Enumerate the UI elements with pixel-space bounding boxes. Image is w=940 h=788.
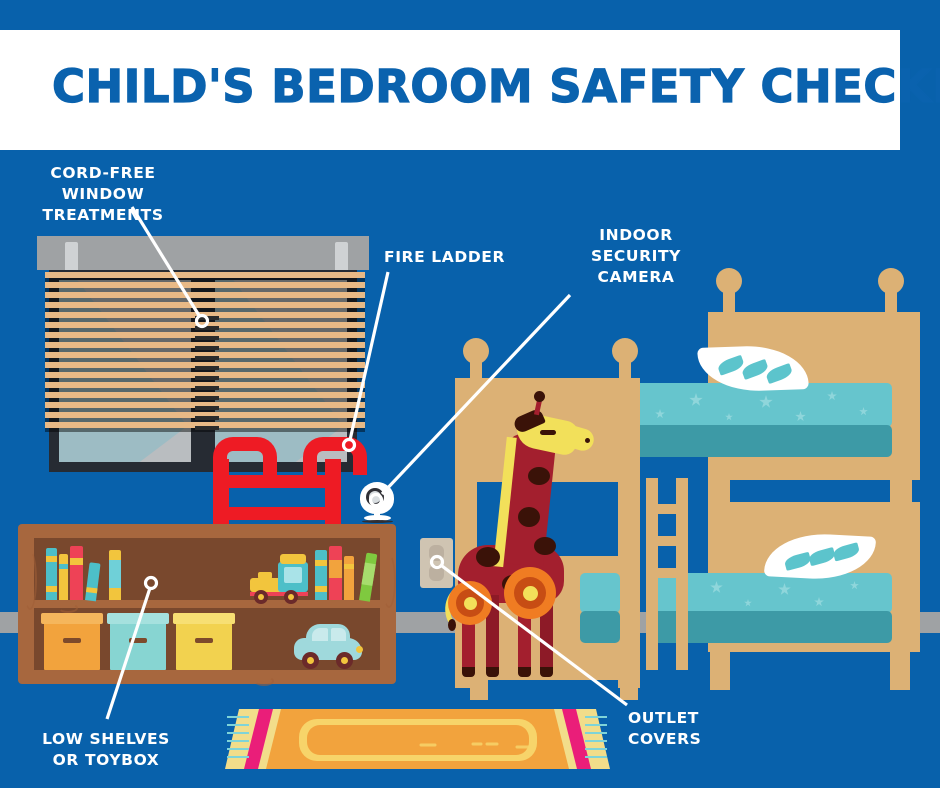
ladder-rail-right	[325, 459, 341, 527]
blind-center-shadow	[195, 316, 219, 430]
page-title: CHILD'S BEDROOM SAFETY CHECKLIST	[52, 60, 872, 113]
infographic-canvas: CHILD'S BEDROOM SAFETY CHECKLIST	[0, 0, 940, 788]
window-valance	[37, 236, 369, 270]
area-rug	[225, 703, 610, 775]
train-stack	[258, 572, 272, 579]
bed-leg-front-left	[470, 678, 488, 700]
giraffe-nostril	[585, 438, 590, 443]
giraffe-ride-on-toy	[440, 395, 600, 680]
giraffe-horn-tip	[534, 391, 545, 402]
bunk-ladder-step-3	[646, 568, 688, 578]
fire-escape-ladder	[213, 437, 343, 529]
car-wheel-rear-hub	[341, 657, 348, 664]
rug-shape	[225, 703, 610, 775]
giraffe-hoof-3	[518, 667, 531, 677]
bed-leg-rear-left	[710, 650, 730, 690]
bunk-ladder-step-1	[646, 504, 688, 514]
indoor-security-camera	[358, 482, 398, 524]
bed-leg-front-right	[620, 678, 638, 700]
book-1	[46, 548, 57, 600]
camera-lens	[369, 491, 381, 503]
bed-leg-rear-right	[890, 650, 910, 690]
wood-grain-left	[23, 550, 37, 610]
giraffe-wheel-front-hub	[464, 597, 477, 610]
book-7	[329, 546, 342, 600]
book-5	[109, 550, 121, 600]
book-2	[59, 554, 68, 600]
mattress-upper-base	[627, 425, 892, 457]
book-8	[344, 556, 354, 600]
giraffe-hoof-2	[486, 667, 499, 677]
giraffe-wheel-rear-hub	[523, 586, 538, 601]
storage-box-yellow	[176, 622, 232, 670]
ladder-rung-2	[227, 507, 327, 520]
bunk-ladder-step-2	[646, 536, 688, 546]
bed-post-upper-right	[890, 312, 912, 534]
giraffe-hoof-1	[462, 667, 475, 677]
toy-train	[250, 554, 310, 600]
callout-low-shelves-or-toybox: LOW SHELVES OR TOYBOX	[16, 729, 196, 771]
low-bookshelf	[18, 524, 396, 684]
car-wheel-front-hub	[307, 657, 314, 664]
ladder-rung-1	[227, 475, 327, 488]
train-wheel-2-hub	[288, 594, 294, 600]
car-window-rear	[331, 628, 346, 641]
train-window	[284, 567, 302, 583]
giraffe-hoof-4	[540, 667, 553, 677]
train-roof	[280, 554, 306, 564]
callout-fire-ladder: FIRE LADDER	[384, 247, 554, 268]
storage-box-orange	[44, 622, 100, 670]
wood-grain-shelf-a	[58, 603, 78, 613]
wood-grain-right	[382, 554, 396, 608]
car-headlight	[356, 646, 363, 653]
callout-outlet-covers: OUTLET COVERS	[628, 708, 788, 750]
camera-base-shadow	[362, 520, 393, 523]
car-window-front	[312, 628, 328, 641]
book-6	[315, 550, 327, 600]
storage-box-teal	[110, 622, 166, 670]
callout-cord-free-window-treatments: CORD-FREE WINDOW TREATMENTS	[8, 163, 198, 226]
toy-car	[294, 624, 364, 666]
book-3	[70, 546, 83, 600]
wood-grain-shelf-b	[254, 676, 274, 686]
window-blinds	[45, 272, 365, 430]
giraffe-eye	[540, 430, 556, 435]
callout-indoor-security-camera: INDOOR SECURITY CAMERA	[566, 225, 706, 288]
train-wheel-1-hub	[258, 594, 264, 600]
